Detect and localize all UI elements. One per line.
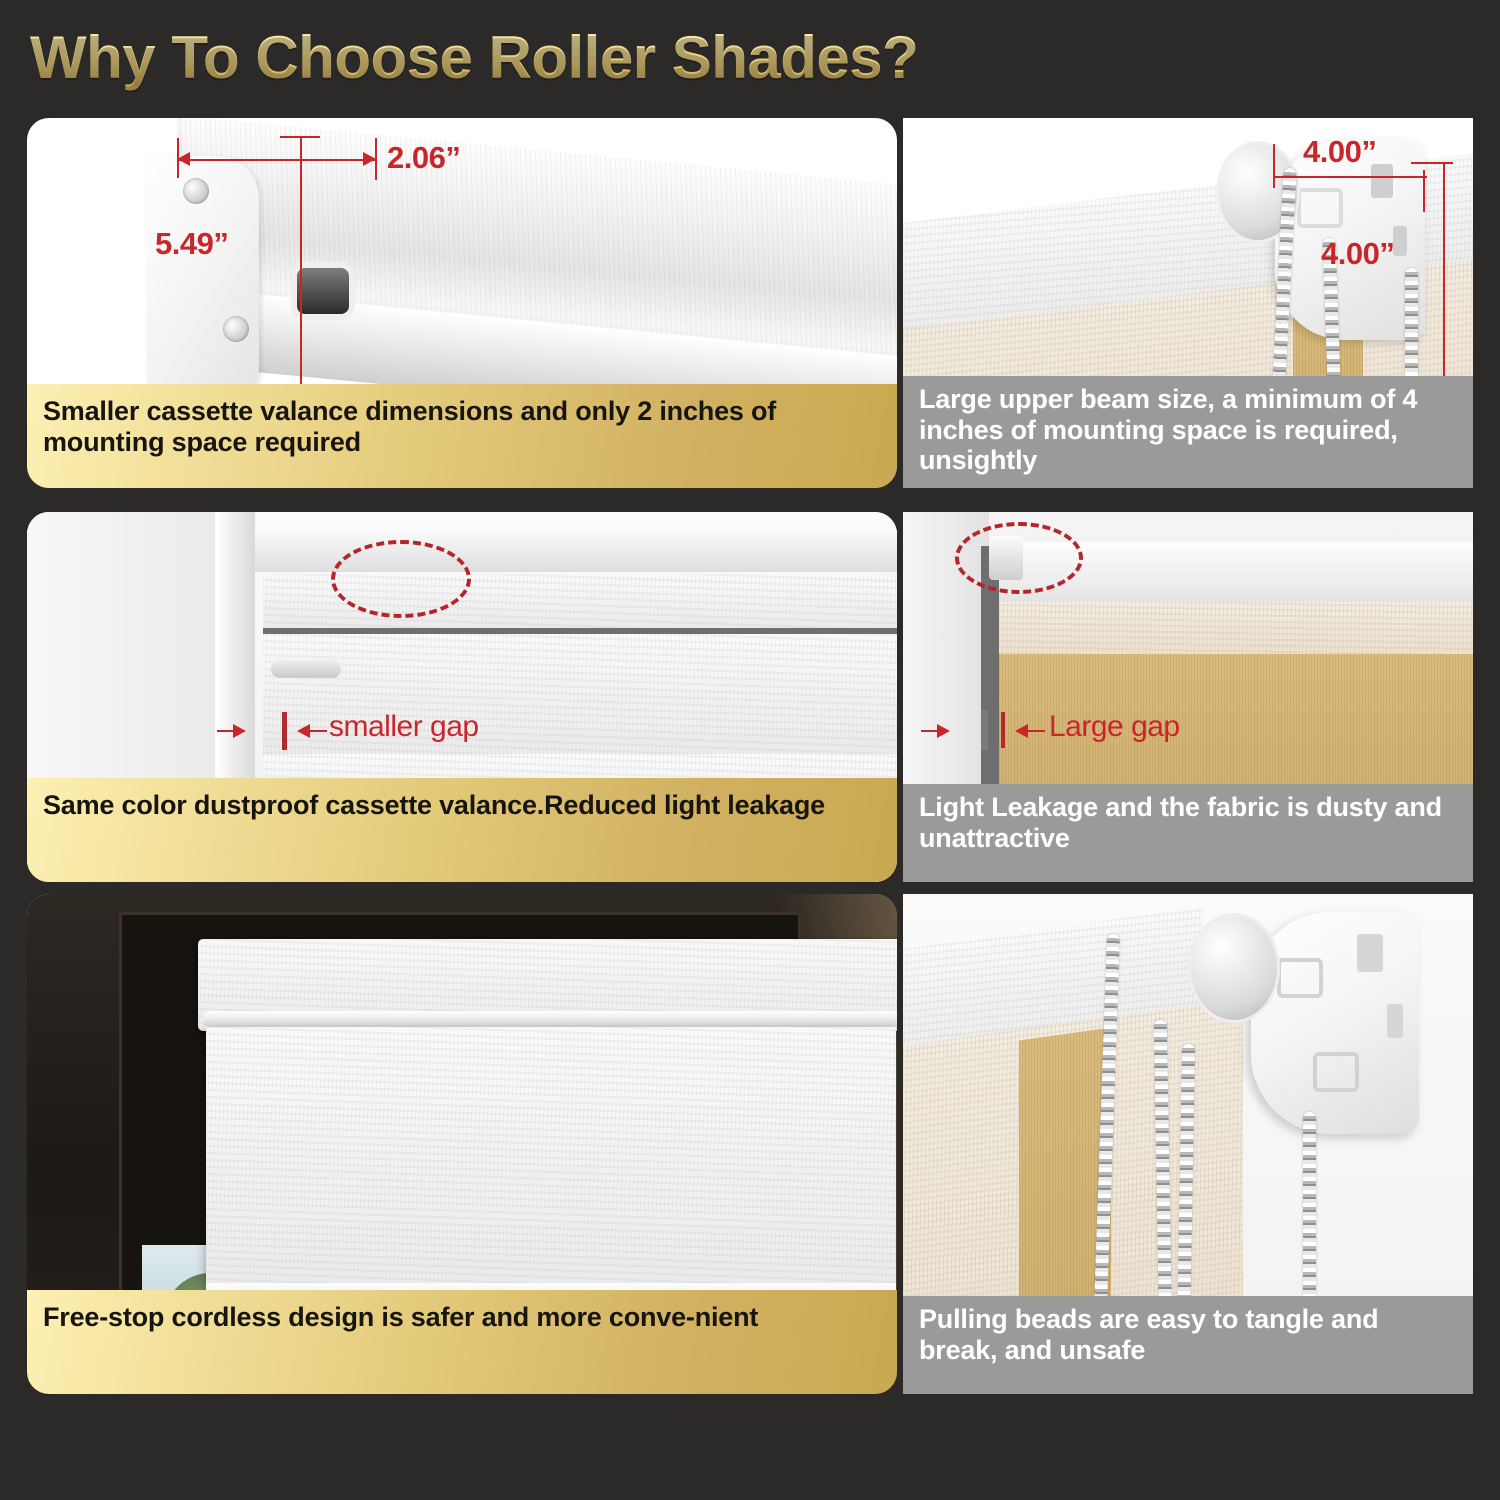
panel-pulling-beads-tangle: Pulling beads are easy to tangle and bre… [903,894,1473,1394]
bracket-arrow-icon [1277,958,1323,998]
panel-light-leakage-dusty-fabric: Large gap Light Leakage and the fabric i… [903,512,1473,882]
caption-cassette-valance-dimensions: Smaller cassette valance dimensions and … [27,384,897,488]
gap-line-right [309,730,327,732]
bracket-arrow-icon [1297,188,1343,228]
gap-marker-bar [981,710,988,750]
screw-icon [223,316,249,342]
screw-icon [183,178,209,204]
annotation-smaller-gap: smaller gap [329,710,479,744]
gap-marker-bar-2 [1001,712,1005,748]
gap-line-left [921,730,941,732]
highlight-ellipse-seam [331,540,471,618]
roller-bracket [1251,912,1419,1134]
bracket-notch [1387,1004,1403,1038]
bracket-notch [1393,226,1407,256]
dimension-label-549: 5.49” [155,226,228,262]
caption-free-stop-cordless-design: Free-stop cordless design is safer and m… [27,1290,897,1394]
dim-tick-top [1411,162,1453,164]
bracket-notch [1357,934,1383,972]
dim-line-v-left [1273,144,1275,188]
caption-light-leakage-dusty-fabric: Light Leakage and the fabric is dusty an… [903,784,1473,882]
dim-arrow-right [363,152,376,166]
gap-line-left [217,730,239,732]
gap-line-right [1027,730,1045,732]
caption-pulling-beads-tangle: Pulling beads are easy to tangle and bre… [903,1296,1473,1394]
roller-pin [271,660,341,678]
dim-arrow-left [177,152,190,166]
dim-line-h-400 [1273,176,1427,178]
caption-large-upper-beam: Large upper beam size, a minimum of 4 in… [903,376,1473,488]
gap-marker-bar [282,712,287,750]
dimension-label-206: 2.06” [387,140,460,176]
dimension-label-400-horizontal: 4.00” [1303,134,1376,170]
shade-fabric-beige [999,602,1473,654]
highlight-ellipse-gap [955,522,1083,594]
caption-dustproof-cassette-valance: Same color dustproof cassette valance.Re… [27,778,897,882]
comparison-grid: 2.06” 5.49” Smaller cassette valance dim… [0,0,1500,1500]
panel-cassette-valance-dimensions: 2.06” 5.49” Smaller cassette valance dim… [27,118,897,488]
dim-tick-top [280,136,320,138]
panel-dustproof-cassette-valance: smaller gap Same color dustproof cassett… [27,512,897,882]
valance-bottom-lip [202,1011,897,1027]
dim-line-h-206 [177,159,377,161]
annotation-large-gap: Large gap [1049,710,1180,744]
window-frame [119,912,801,1342]
valance-slot [297,268,349,314]
dimension-label-400-vertical: 4.00” [1321,236,1394,272]
panel-large-upper-beam: 4.00” 4.00” Large upper beam size, a min… [903,118,1473,488]
panel-free-stop-cordless-design: Free-stop cordless design is safer and m… [27,894,897,1394]
shade-fabric-body [206,1027,896,1287]
bracket-arrow-icon [1313,1052,1359,1092]
roller-tube-end [1191,916,1277,1020]
